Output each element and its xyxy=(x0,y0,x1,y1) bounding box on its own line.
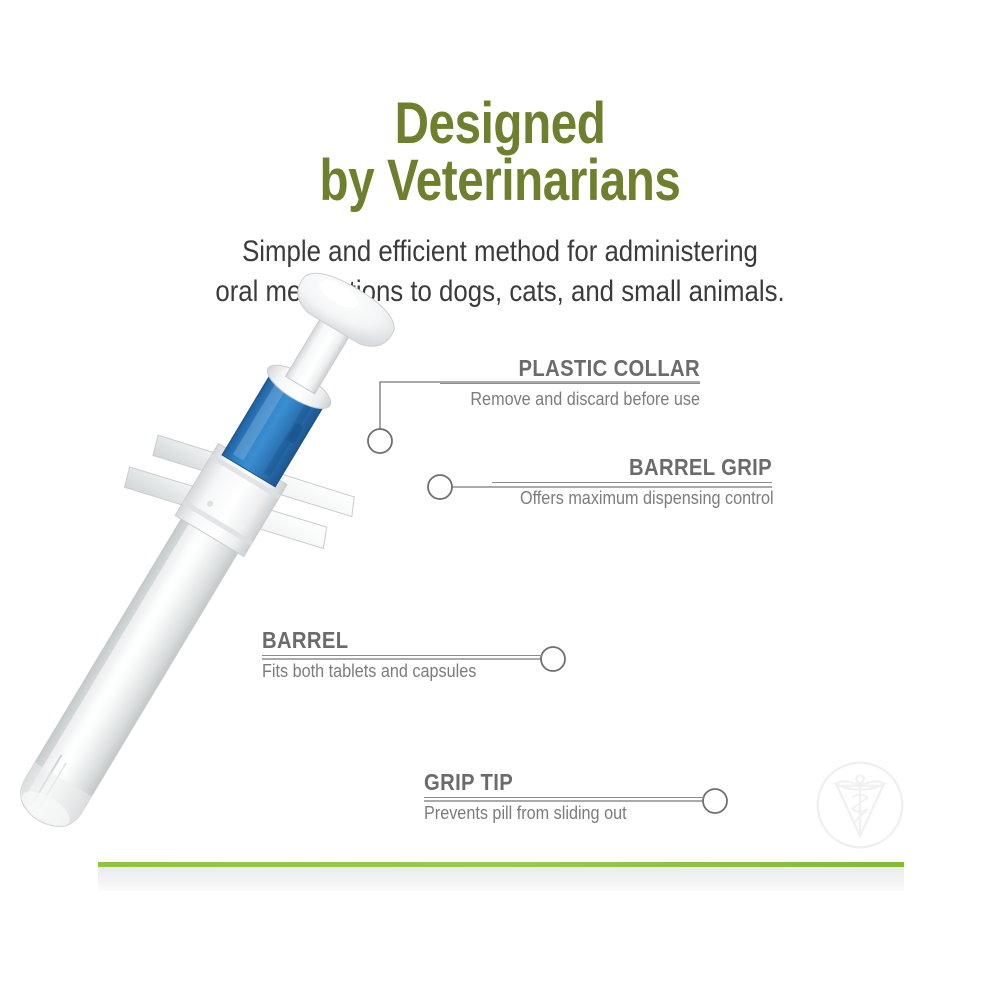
callout-barrel-grip: BARREL GRIP Offers maximum dispensing co… xyxy=(492,455,772,510)
gray-gradient-band xyxy=(98,867,904,891)
caduceus-icon xyxy=(812,757,908,853)
callout-barrel-grip-title: BARREL GRIP xyxy=(526,455,772,479)
callout-barrel: BARREL Fits both tablets and capsules xyxy=(262,628,542,683)
callout-grip-tip-title: GRIP TIP xyxy=(424,770,670,794)
product-infographic: Designed by Veterinarians Simple and eff… xyxy=(0,0,1000,1000)
callout-plastic-collar-title: PLASTIC COLLAR xyxy=(471,356,700,380)
callout-grip-tip: GRIP TIP Prevents pill from sliding out xyxy=(424,770,704,825)
callout-plastic-collar: PLASTIC COLLAR Remove and discard before… xyxy=(440,356,700,411)
callout-barrel-title: BARREL xyxy=(262,628,508,652)
callout-grip-tip-desc: Prevents pill from sliding out xyxy=(424,798,676,825)
callout-barrel-grip-desc: Offers maximum dispensing control xyxy=(520,483,772,510)
callout-barrel-desc: Fits both tablets and capsules xyxy=(262,656,514,683)
callout-plastic-collar-desc: Remove and discard before use xyxy=(466,384,700,411)
